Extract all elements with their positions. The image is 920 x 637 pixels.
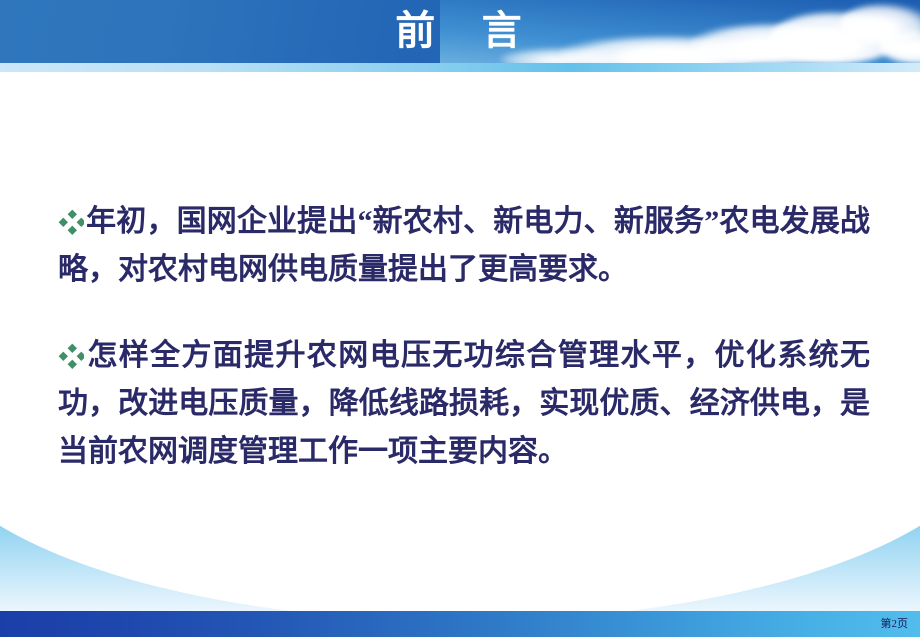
slide-title: 前 言	[0, 0, 920, 63]
slide-footer-bar: 第2页	[0, 611, 920, 637]
bullet-paragraph: 怎样全方面提升农网电压无功综合管理水平，优化系统无功，改进电压质量，降低线路损耗…	[58, 332, 870, 476]
bullet-text: 怎样全方面提升农网电压无功综合管理水平，优化系统无功，改进电压质量，降低线路损耗…	[58, 339, 870, 468]
diamond-cluster-bullet-icon	[58, 209, 84, 235]
presentation-slide: 前 言 年初，国网企业提出“新农村、新电力、新服务”农电发展战略，对农村电网供电…	[0, 0, 920, 637]
bullet-paragraph: 年初，国网企业提出“新农村、新电力、新服务”农电发展战略，对农村电网供电质量提出…	[58, 198, 870, 294]
slide-body: 年初，国网企业提出“新农村、新电力、新服务”农电发展战略，对农村电网供电质量提出…	[58, 168, 870, 506]
page-number-label: 第2页	[881, 611, 909, 637]
header-accent-band	[0, 63, 920, 72]
bullet-text: 年初，国网企业提出“新农村、新电力、新服务”农电发展战略，对农村电网供电质量提出…	[58, 205, 870, 286]
diamond-cluster-bullet-icon	[58, 343, 84, 369]
